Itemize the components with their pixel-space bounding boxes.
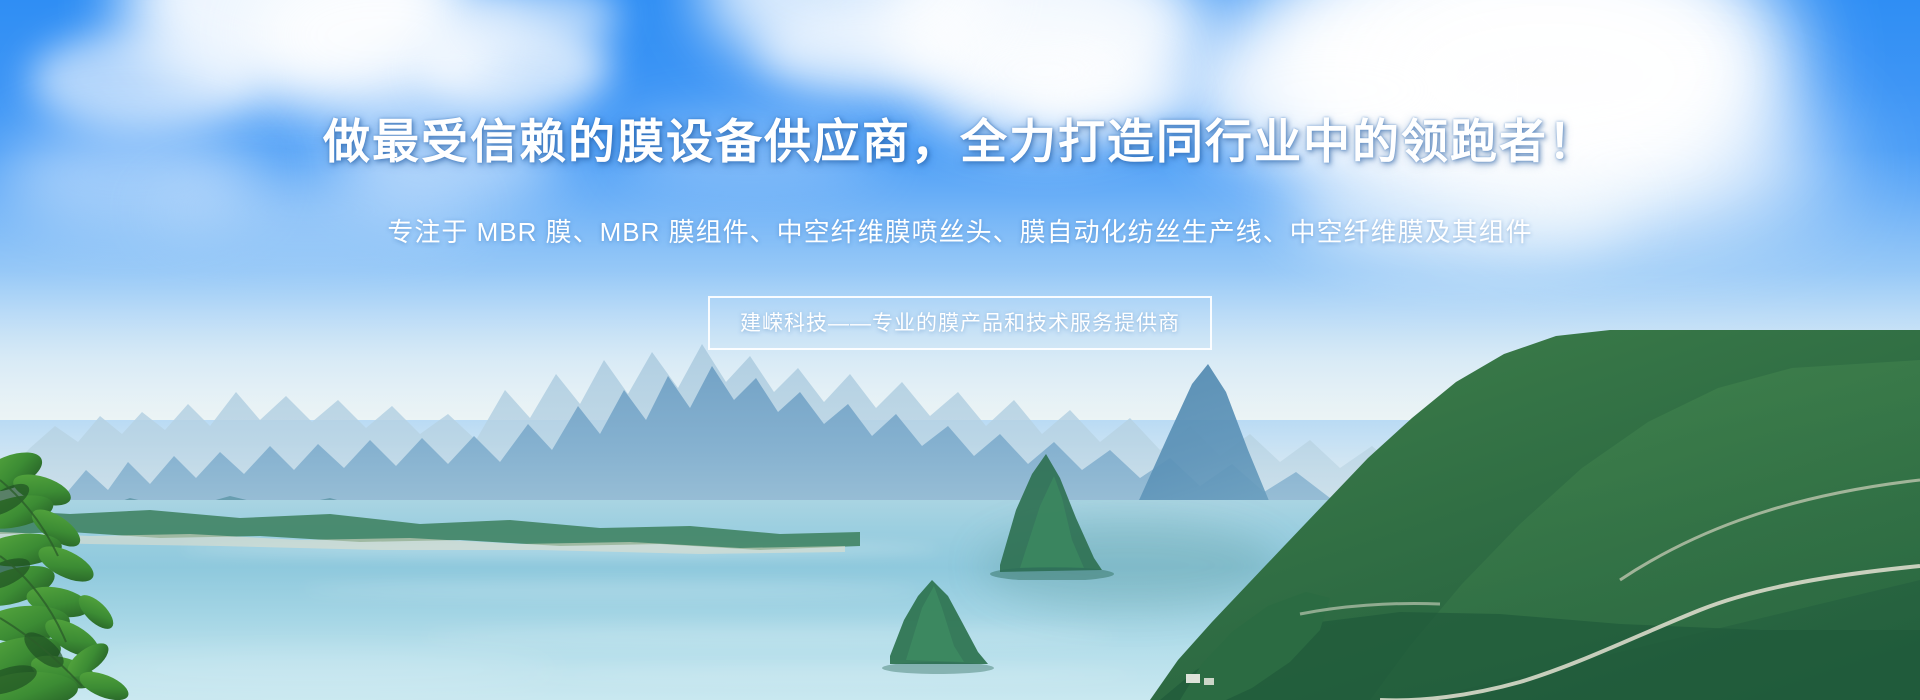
banner-subtitle: 专注于 MBR 膜、MBR 膜组件、中空纤维膜喷丝头、膜自动化纺丝生产线、中空纤… — [0, 212, 1920, 249]
page-title: 做最受信赖的膜设备供应商，全力打造同行业中的领跑者！ — [0, 103, 1920, 172]
cloud-shape — [760, 10, 960, 90]
tagline-container: 建嵘科技——专业的膜产品和技术服务提供商 — [0, 296, 1920, 350]
tagline-box: 建嵘科技——专业的膜产品和技术服务提供商 — [708, 296, 1212, 350]
foreground-foliage — [0, 350, 1920, 700]
hero-banner: 做最受信赖的膜设备供应商，全力打造同行业中的领跑者！ 专注于 MBR 膜、MBR… — [0, 0, 1920, 700]
